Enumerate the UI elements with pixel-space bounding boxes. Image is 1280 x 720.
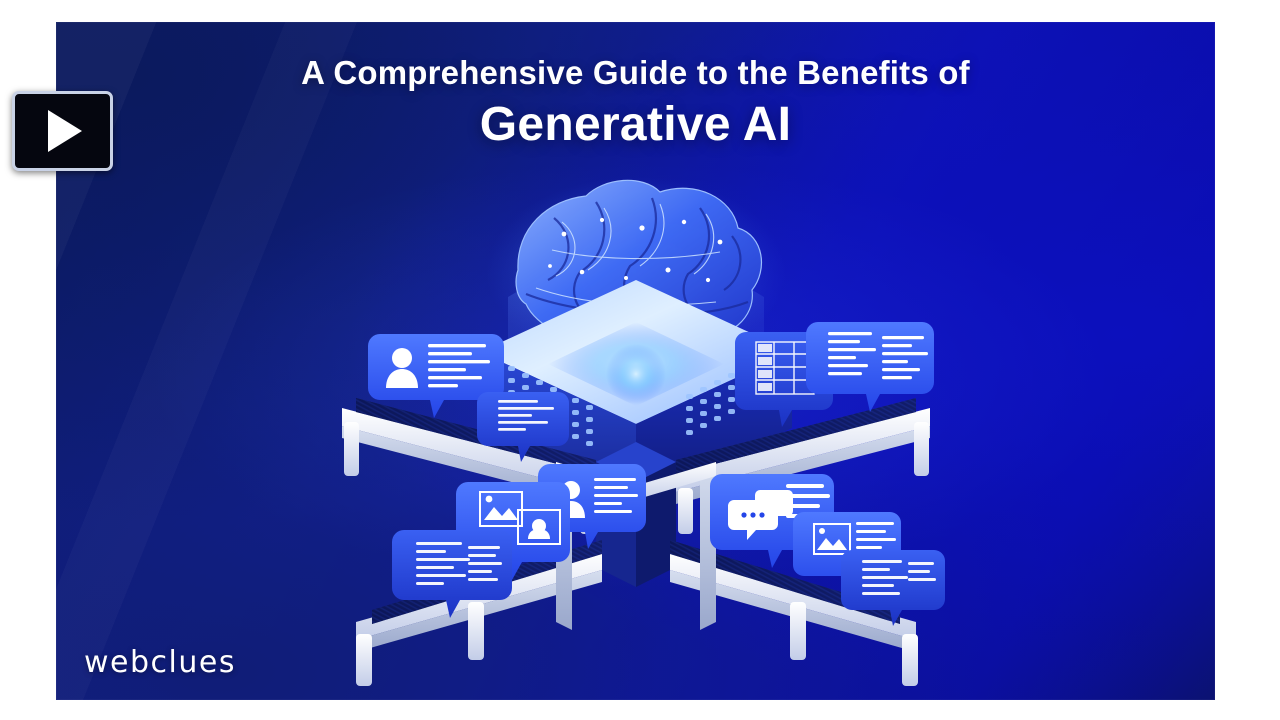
isometric-generative-ai-illustration [56, 22, 1215, 700]
presentation-slide: A Comprehensive Guide to the Benefits of… [56, 22, 1215, 700]
webclues-logo: webclues [84, 645, 236, 680]
play-icon [48, 110, 82, 152]
play-button[interactable] [12, 91, 113, 171]
screenshot-canvas: A Comprehensive Guide to the Benefits of… [0, 0, 1280, 720]
